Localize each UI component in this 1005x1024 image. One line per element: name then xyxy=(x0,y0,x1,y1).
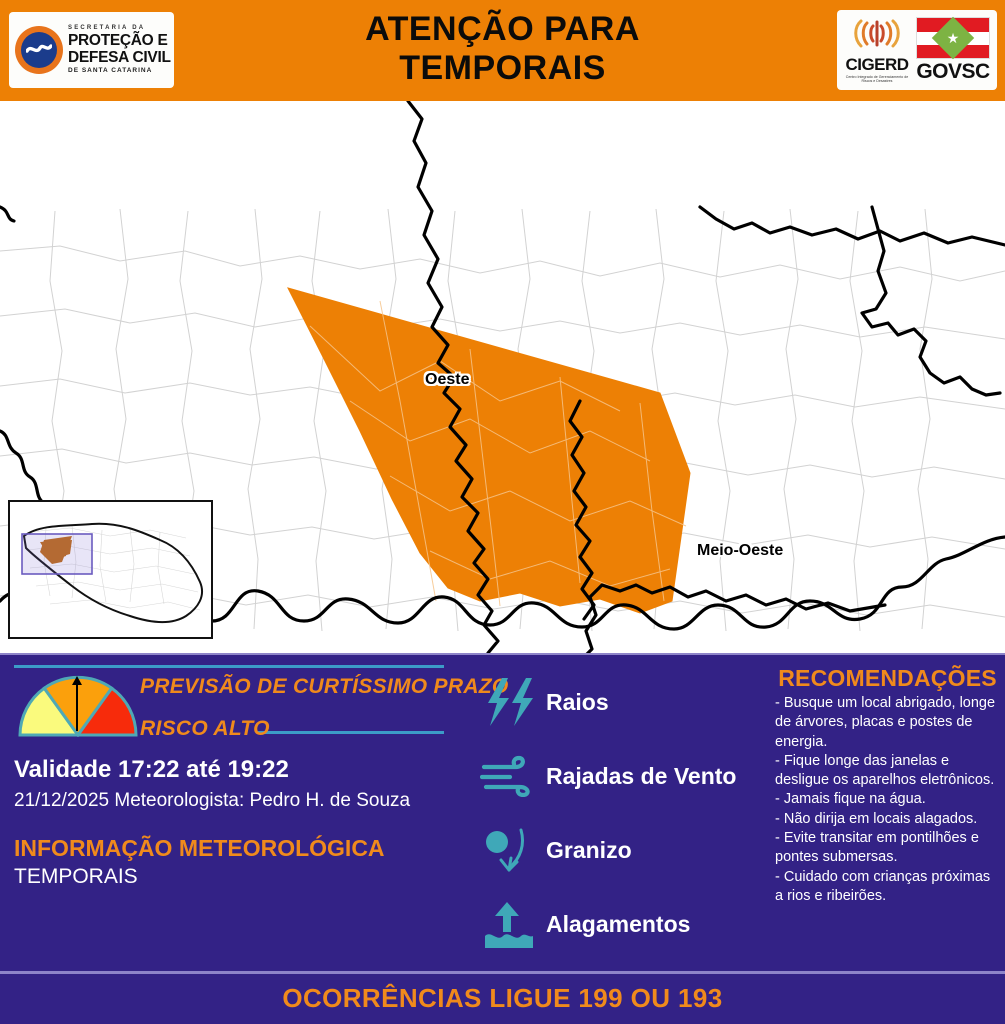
hazard-item-alagamentos: Alagamentos xyxy=(478,887,768,961)
santa-catarina-flag-icon: ★ xyxy=(916,17,990,59)
meteorological-info-heading: INFORMAÇÃO METEOROLÓGICA xyxy=(14,835,385,862)
govsc-wordmark: GOVSC xyxy=(914,60,992,84)
hazard-item-raios: Raios xyxy=(478,665,768,739)
title-line-2: TEMPORAIS xyxy=(230,49,775,88)
risk-gauge xyxy=(18,675,138,745)
risk-level-label: RISCO ALTO xyxy=(140,717,270,741)
govsc-gov: GOV xyxy=(916,60,961,83)
footer-top-divider xyxy=(0,971,1005,974)
recommendation-item: - Cuidado com crianças próximas a rios e… xyxy=(775,868,1000,907)
forecast-kind-label: PREVISÃO DE CURTÍSSIMO PRAZO xyxy=(140,675,509,699)
flood-icon xyxy=(478,898,540,950)
lightning-icon xyxy=(478,676,540,728)
validity-label: Validade 17:22 até 19:22 xyxy=(14,756,289,784)
hazard-item-granizo: Granizo xyxy=(478,813,768,887)
recommendation-item: - Jamais fique na água. xyxy=(775,790,1000,809)
logo-line-secretaria: SECRETARIA DA xyxy=(68,25,171,31)
recommendation-item: - Busque um local abrigado, longe de árv… xyxy=(775,694,1000,752)
hail-icon xyxy=(478,824,540,876)
hazard-label-granizo: Granizo xyxy=(546,837,632,864)
risk-gauge-needle xyxy=(76,683,78,731)
cigerd-waves-icon xyxy=(851,17,903,51)
defesa-civil-logo: SECRETARIA DA PROTEÇÃO E DEFESA CIVIL DE… xyxy=(9,12,174,88)
partner-logos: CIGERD Centro Integrado de Gerenciamento… xyxy=(837,10,997,90)
alert-infographic: SECRETARIA DA PROTEÇÃO E DEFESA CIVIL DE… xyxy=(0,0,1005,1024)
govsc-sc: SC xyxy=(962,60,990,83)
panel-top-divider xyxy=(0,653,1005,655)
meteorological-info-body: TEMPORAIS xyxy=(14,865,138,889)
emergency-phone-text: OCORRÊNCIAS LIGUE 199 OU 193 xyxy=(0,983,1005,1014)
page-title: ATENÇÃO PARA TEMPORAIS xyxy=(230,10,775,88)
recommendations-list: - Busque um local abrigado, longe de árv… xyxy=(775,694,1000,906)
recommendation-item: - Evite transitar em pontilhões e pontes… xyxy=(775,829,1000,868)
locator-inset-graphic xyxy=(10,502,211,637)
alert-map[interactable]: Oeste Meio-Oeste xyxy=(0,101,1005,653)
logo-line-defesa-civil: DEFESA CIVIL xyxy=(68,50,171,66)
wind-gust-icon xyxy=(478,750,540,802)
hazard-item-rajadas-de-vento: Rajadas de Vento xyxy=(478,739,768,813)
title-line-1: ATENÇÃO PARA xyxy=(230,10,775,49)
recommendations-title: RECOMENDAÇÕES xyxy=(775,665,1000,692)
govsc-logo: ★ GOVSC xyxy=(914,17,992,84)
cigerd-logo: CIGERD Centro Integrado de Gerenciamento… xyxy=(842,17,912,84)
map-label-meio-oeste: Meio-Oeste xyxy=(697,542,783,560)
date-meteorologist-label: 21/12/2025 Meteorologista: Pedro H. de S… xyxy=(14,790,410,812)
header-banner: SECRETARIA DA PROTEÇÃO E DEFESA CIVIL DE… xyxy=(0,0,1005,101)
recommendation-item: - Não dirija em locais alagados. xyxy=(775,810,1000,829)
info-panel: PREVISÃO DE CURTÍSSIMO PRAZO RISCO ALTO … xyxy=(0,653,1005,971)
hazard-label-alagamentos: Alagamentos xyxy=(546,911,690,938)
cigerd-name: CIGERD xyxy=(842,56,912,73)
recommendation-item: - Fique longe das janelas e desligue os … xyxy=(775,752,1000,791)
defesa-civil-emblem-icon xyxy=(15,26,63,74)
map-label-oeste: Oeste xyxy=(425,371,469,389)
hazard-list: Raios Rajadas de Vento xyxy=(478,665,768,961)
logo-line-santa-catarina: DE SANTA CATARINA xyxy=(68,68,171,75)
logo-line-protecao: PROTEÇÃO E xyxy=(68,33,171,49)
divider-bottom xyxy=(258,731,444,734)
recommendations-block: RECOMENDAÇÕES - Busque um local abrigado… xyxy=(775,665,1000,906)
hazard-label-raios: Raios xyxy=(546,689,609,716)
hazard-label-rajadas: Rajadas de Vento xyxy=(546,763,736,790)
cigerd-subtitle: Centro Integrado de Gerenciamento de Ris… xyxy=(842,75,912,84)
locator-viewport-box xyxy=(22,534,92,574)
locator-inset-map xyxy=(8,500,213,639)
defesa-civil-logo-text: SECRETARIA DA PROTEÇÃO E DEFESA CIVIL DE… xyxy=(68,25,171,75)
divider-top xyxy=(14,665,444,668)
footer-banner: OCORRÊNCIAS LIGUE 199 OU 193 xyxy=(0,971,1005,1024)
hands-icon xyxy=(26,42,52,58)
